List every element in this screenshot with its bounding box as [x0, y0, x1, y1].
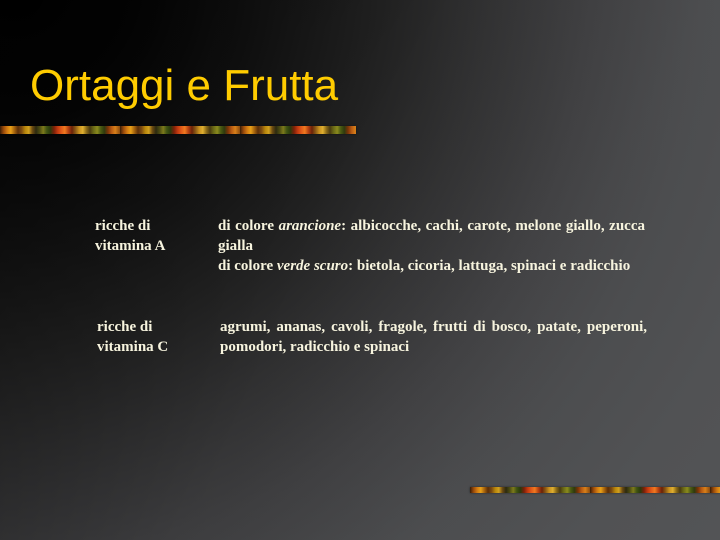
paragraph-emphasis: verde scuro — [277, 258, 348, 274]
paragraph-suffix: : bietola, cicoria, lattuga, spinaci e r… — [348, 258, 630, 274]
row-label-line-1: ricche di — [97, 317, 215, 337]
row-value-vitamin-a: di colore arancione: albicocche, cachi, … — [218, 216, 645, 276]
paragraph-verde-scuro: di colore verde scuro: bietola, cicoria,… — [218, 256, 645, 276]
row-label-vitamin-a: ricche di vitamina A — [95, 216, 213, 256]
row-label-line-2: vitamina C — [97, 337, 215, 357]
slide: Ortaggi e Frutta ricche di vitamina A di… — [0, 0, 720, 540]
paragraph-suffix: agrumi, ananas, cavoli, fragole, frutti … — [220, 319, 647, 355]
row-label-line-1: ricche di — [95, 216, 213, 236]
paragraph-emphasis: arancione — [279, 218, 342, 234]
paragraph-prefix: di colore — [218, 218, 279, 234]
paragraph-prefix: di colore — [218, 258, 277, 274]
row-label-line-2: vitamina A — [95, 236, 213, 256]
row-value-vitamin-c: agrumi, ananas, cavoli, fragole, frutti … — [220, 317, 647, 357]
slide-body: ricche di vitamina A di colore arancione… — [0, 0, 720, 540]
paragraph-arancione: di colore arancione: albicocche, cachi, … — [218, 216, 645, 256]
row-label-vitamin-c: ricche di vitamina C — [97, 317, 215, 357]
paragraph-vitamina-c: agrumi, ananas, cavoli, fragole, frutti … — [220, 317, 647, 357]
